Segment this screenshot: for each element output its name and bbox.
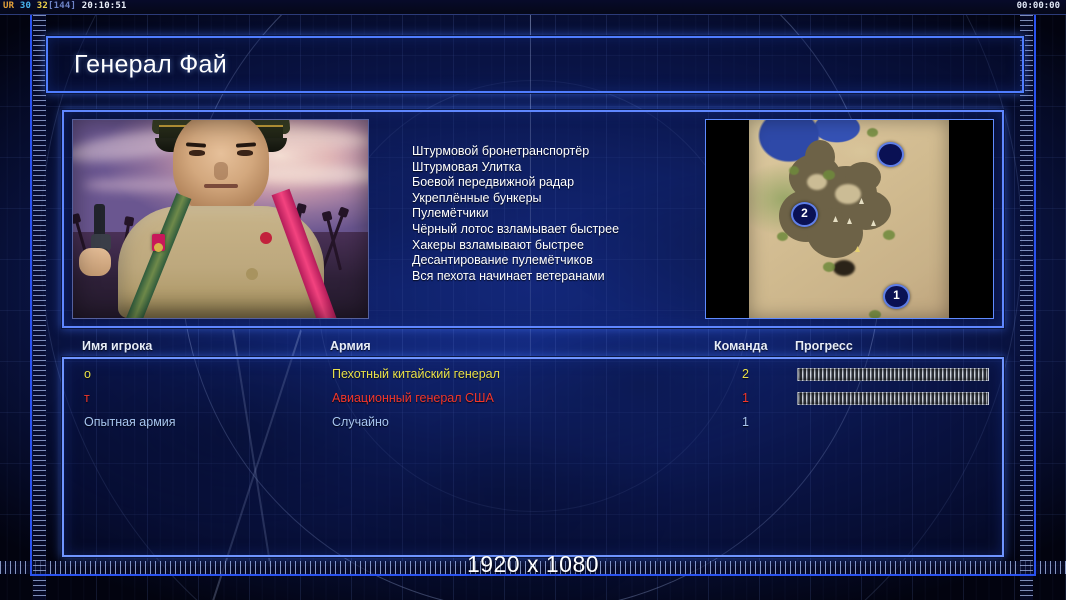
resolution-label: 1920 x 1080 [0, 551, 1066, 578]
player-army[interactable]: Случайно [332, 415, 389, 429]
column-header-team: Команда [714, 339, 768, 353]
page-title: Генерал Фай [74, 50, 227, 79]
player-name: о [84, 367, 91, 381]
player-army[interactable]: Авиационный генерал США [332, 391, 494, 405]
system-clock: 20:10:51 [82, 1, 127, 11]
table-row[interactable]: тАвиационный генерал США1 [64, 387, 1002, 411]
player-team[interactable]: 1 [742, 391, 749, 405]
progress-bar [797, 392, 989, 405]
column-header-name: Имя игрока [82, 339, 152, 353]
hud-frame-line-right [1034, 14, 1036, 574]
player-team[interactable]: 2 [742, 367, 749, 381]
table-row[interactable]: оПехотный китайский генерал2 [64, 363, 1002, 387]
table-row[interactable]: Опытная армияСлучайно1 [64, 411, 1002, 435]
network-value-2: 32 [37, 1, 48, 11]
player-name: т [84, 391, 90, 405]
player-list-panel: оПехотный китайский генерал2тАвиационный… [62, 357, 1004, 557]
column-header-progress: Прогресс [795, 339, 853, 353]
portrait-vignette [73, 120, 368, 318]
player-table-headers: Имя игрока Армия Команда Прогресс [62, 339, 1000, 356]
network-value-1: 30 [20, 1, 31, 11]
general-info-panel: Штурмовой бронетранспортёрШтурмовая Улит… [62, 110, 1004, 328]
player-army[interactable]: Пехотный китайский генерал [332, 367, 500, 381]
title-panel: Генерал Фай [46, 36, 1024, 93]
game-screen: UR 30 32[144] 20:10:51 00:00:00 Генерал … [0, 0, 1066, 600]
network-bracket: [144] [48, 1, 76, 11]
minimap-frame: 2 1 [705, 119, 994, 319]
progress-bar [797, 368, 989, 381]
general-portrait [72, 119, 369, 319]
minimap-preview[interactable]: 2 1 [749, 120, 949, 318]
network-label: UR [3, 1, 14, 11]
hud-frame-line-left [30, 14, 32, 574]
player-team[interactable]: 1 [742, 415, 749, 429]
column-header-army: Армия [330, 339, 371, 353]
minimap-shading [749, 120, 949, 318]
status-bar: UR 30 32[144] 20:10:51 00:00:00 [0, 0, 1066, 15]
match-timer: 00:00:00 [1017, 1, 1060, 11]
player-name: Опытная армия [84, 415, 176, 429]
network-stats: UR 30 32[144] 20:10:51 [3, 1, 127, 11]
hud-ruler-left [33, 0, 46, 600]
